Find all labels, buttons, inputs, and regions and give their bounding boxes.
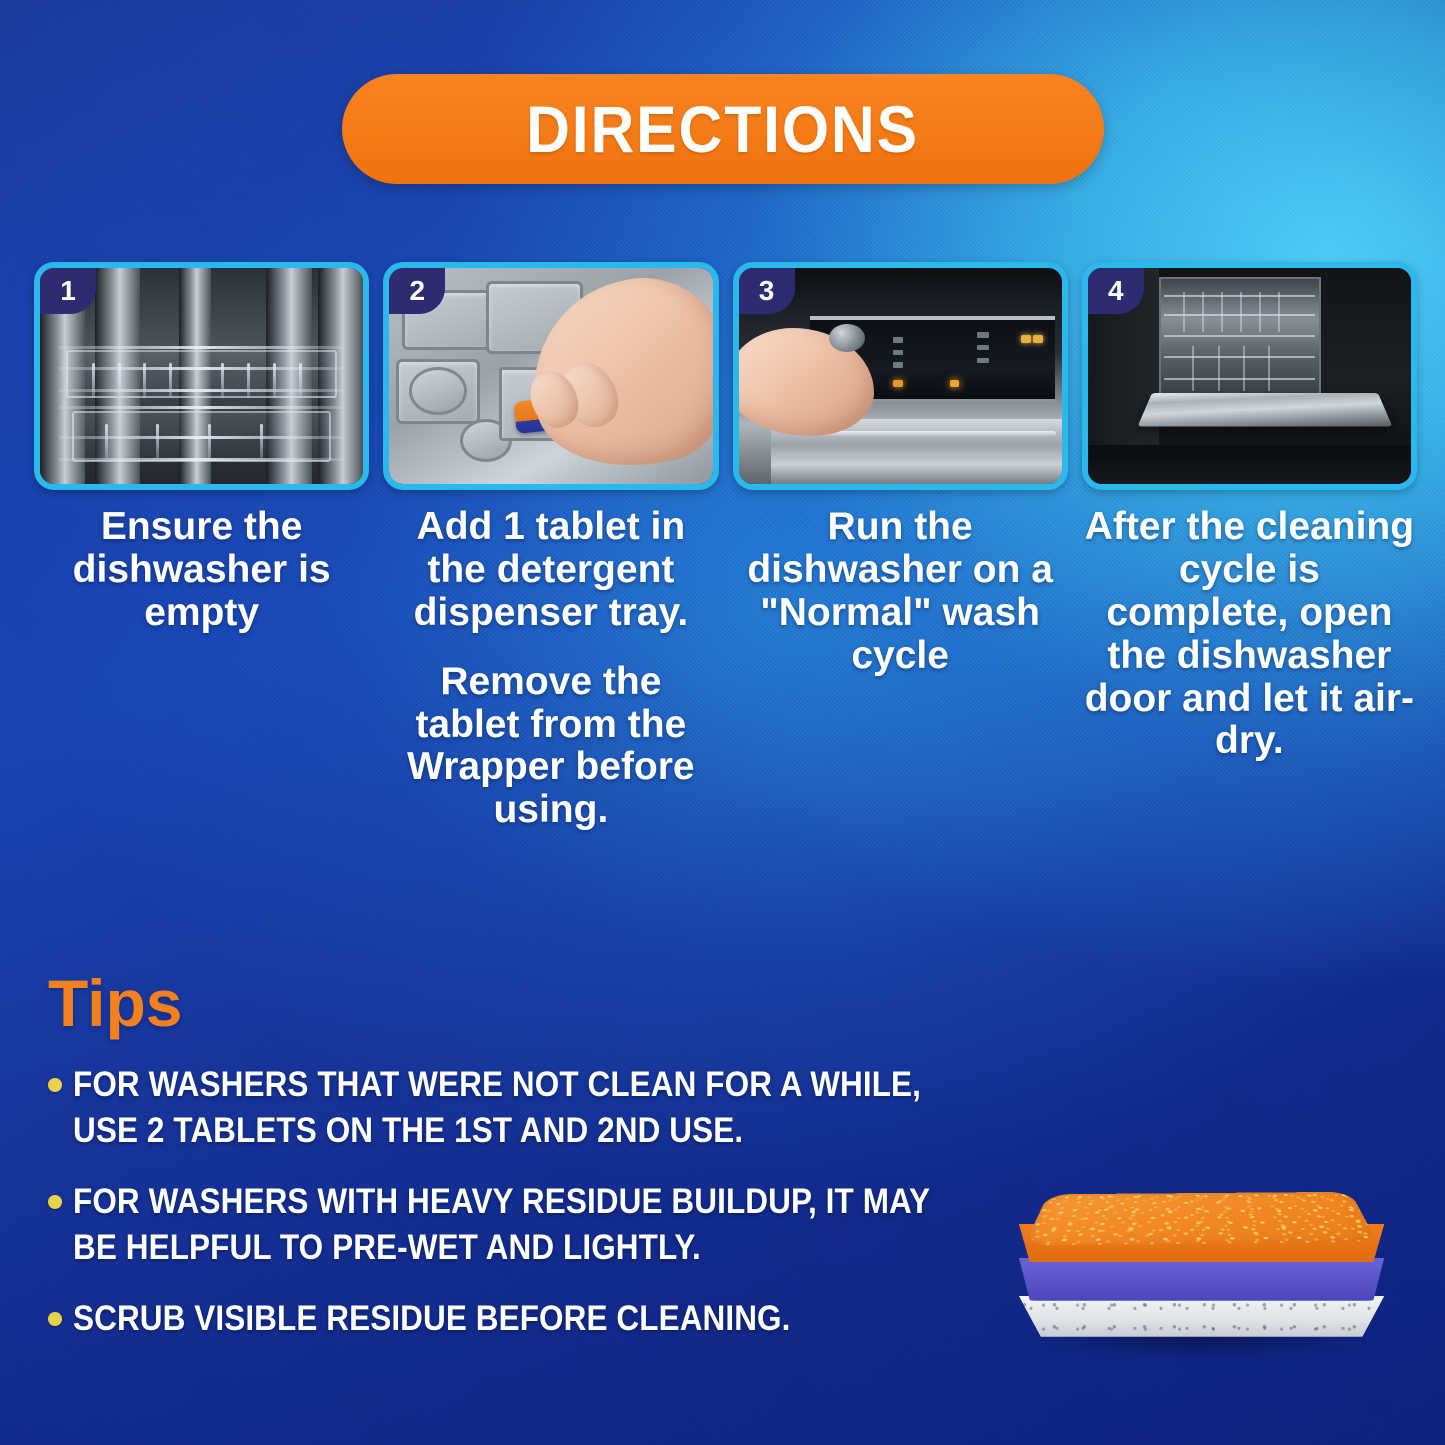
step-4-number-badge: 4 [1088,268,1144,314]
step-4-caption: After the cleaning cycle is complete, op… [1082,506,1417,763]
bullet-icon [48,1195,62,1209]
step-1: 1 Ensure the dishwasher is empty [34,262,369,832]
page-title: DIRECTIONS [526,91,919,167]
step-2-caption-line-1: Add 1 tablet in the detergent dispenser … [414,505,689,634]
tip-text: SCRUB VISIBLE RESIDUE BEFORE CLEANING. [73,1296,951,1342]
step-4-image: 4 [1082,262,1417,490]
step-4: 4 After the cleaning cycle is complete, … [1082,262,1417,832]
tip-text: FOR WASHERS WITH HEAVY RESIDUE BUILDUP, … [73,1179,951,1270]
step-3-caption: Run the dishwasher on a "Normal" wash cy… [733,506,1068,678]
tip-item: FOR WASHERS WITH HEAVY RESIDUE BUILDUP, … [48,1179,1048,1270]
step-1-number-badge: 1 [40,268,96,314]
tips-list: FOR WASHERS THAT WERE NOT CLEAN FOR A WH… [48,1062,1048,1368]
tip-text: FOR WASHERS THAT WERE NOT CLEAN FOR A WH… [73,1062,951,1153]
step-3-image: 3 [733,262,1068,490]
tablet-layer-white [1019,1296,1384,1337]
tablet-layer-purple [1019,1258,1384,1301]
directions-header-pill: DIRECTIONS [342,74,1104,184]
step-2: 2 Add 1 tablet in the detergent dispense… [383,262,718,832]
product-tablet-image [1000,1128,1420,1368]
tablet-top-surface [1024,1191,1377,1245]
step-2-caption-line-2: Remove the tablet from the Wrapper befor… [385,661,716,833]
infographic-page: DIRECTIONS [0,0,1445,1445]
step-2-caption: Add 1 tablet in the detergent dispenser … [383,506,718,832]
tip-item: SCRUB VISIBLE RESIDUE BEFORE CLEANING. [48,1296,1048,1342]
bullet-icon [48,1078,62,1092]
tips-heading: Tips [48,970,182,1036]
step-2-image: 2 [383,262,718,490]
tip-item: FOR WASHERS THAT WERE NOT CLEAN FOR A WH… [48,1062,1048,1153]
step-1-caption: Ensure the dishwasher is empty [34,506,369,635]
steps-row: 1 Ensure the dishwasher is empty [34,262,1417,832]
step-3: 3 Run the dishwasher on a "Normal" wash … [733,262,1068,832]
header-section: DIRECTIONS [0,74,1445,184]
bullet-icon [48,1312,62,1326]
step-3-number-badge: 3 [739,268,795,314]
step-1-image: 1 [34,262,369,490]
control-knob [829,324,865,352]
